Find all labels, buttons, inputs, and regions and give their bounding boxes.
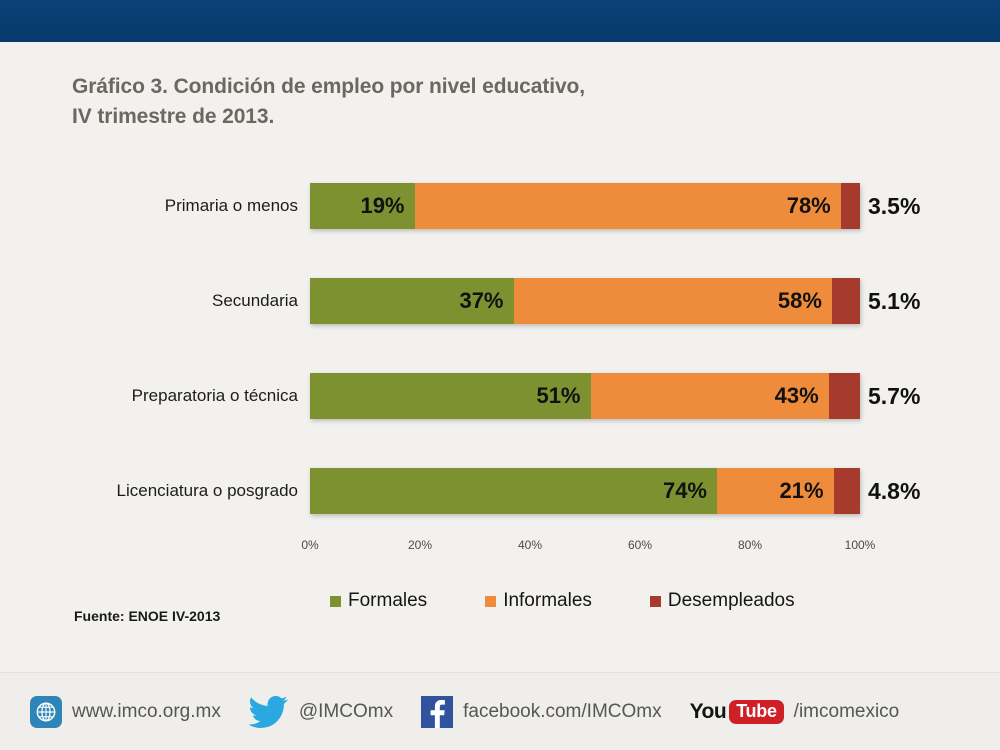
bar-segment-value: 78% <box>787 183 831 229</box>
legend-item-label: Desempleados <box>668 590 795 612</box>
footer-link[interactable]: www.imco.org.mx <box>30 696 221 728</box>
bar-segment-value: 19% <box>360 183 404 229</box>
youtube-wordmark-you: You <box>690 700 727 724</box>
bar-segment-desempleados[interactable] <box>834 468 860 514</box>
legend-item-label: Formales <box>348 590 427 612</box>
x-axis-tick-label: 20% <box>408 538 432 552</box>
bar-segment-value: 37% <box>459 278 503 324</box>
youtube-icon: YouTube <box>690 700 784 724</box>
bar-row: Preparatoria o técnica51%43%5.7% <box>0 373 1000 419</box>
legend-item[interactable]: Formales <box>330 590 427 612</box>
footer-link[interactable]: @IMCOmx <box>249 696 393 728</box>
footer-bar: www.imco.org.mx@IMCOmxfacebook.com/IMCOm… <box>0 672 1000 750</box>
stacked-bar[interactable]: 74%21% <box>310 468 860 514</box>
stacked-bar[interactable]: 19%78% <box>310 183 860 229</box>
x-axis-tick-label: 0% <box>301 538 318 552</box>
bar-segment-formales[interactable]: 51% <box>310 373 591 419</box>
bar-outside-value: 5.7% <box>868 373 920 419</box>
chart-plot-area: Primaria o menos19%78%3.5%Secundaria37%5… <box>0 160 1000 560</box>
footer-link-label: /imcomexico <box>794 701 900 723</box>
legend-swatch-desempleados <box>650 596 661 607</box>
legend-swatch-informales <box>485 596 496 607</box>
youtube-wordmark-tube: Tube <box>729 700 783 724</box>
category-label: Primaria o menos <box>165 183 298 229</box>
top-banner <box>0 0 1000 42</box>
globe-icon <box>30 696 62 728</box>
footer-link[interactable]: YouTube/imcomexico <box>690 700 900 724</box>
category-label: Secundaria <box>212 278 298 324</box>
bar-segment-value: 58% <box>778 278 822 324</box>
source-note: Fuente: ENOE IV-2013 <box>74 608 220 624</box>
bar-segment-informales[interactable]: 43% <box>591 373 829 419</box>
footer-link-label: facebook.com/IMCOmx <box>463 701 662 723</box>
bar-outside-value: 3.5% <box>868 183 920 229</box>
legend-swatch-formales <box>330 596 341 607</box>
footer-link-label: www.imco.org.mx <box>72 701 221 723</box>
bar-segment-value: 51% <box>536 373 580 419</box>
bar-row: Primaria o menos19%78%3.5% <box>0 183 1000 229</box>
chart-title-line-1: Gráfico 3. Condición de empleo por nivel… <box>72 75 585 98</box>
legend-item[interactable]: Informales <box>485 590 592 612</box>
bar-segment-value: 21% <box>780 468 824 514</box>
legend-item[interactable]: Desempleados <box>650 590 795 612</box>
bar-segment-informales[interactable]: 21% <box>717 468 834 514</box>
bar-segment-formales[interactable]: 74% <box>310 468 717 514</box>
category-label: Preparatoria o técnica <box>132 373 298 419</box>
x-axis: 0%20%40%60%80%100% <box>310 538 860 560</box>
x-axis-tick-label: 40% <box>518 538 542 552</box>
facebook-icon <box>421 696 453 728</box>
bar-segment-desempleados[interactable] <box>829 373 860 419</box>
category-label: Licenciatura o posgrado <box>117 468 298 514</box>
x-axis-tick-label: 80% <box>738 538 762 552</box>
chart-title-line-2: IV trimestre de 2013. <box>72 102 772 132</box>
bar-segment-formales[interactable]: 37% <box>310 278 514 324</box>
bar-outside-value: 4.8% <box>868 468 920 514</box>
stacked-bar[interactable]: 37%58% <box>310 278 860 324</box>
bar-segment-value: 43% <box>775 373 819 419</box>
twitter-icon <box>249 696 289 728</box>
bar-segment-formales[interactable]: 19% <box>310 183 415 229</box>
bar-segment-informales[interactable]: 58% <box>514 278 832 324</box>
x-axis-tick-label: 60% <box>628 538 652 552</box>
footer-link[interactable]: facebook.com/IMCOmx <box>421 696 662 728</box>
legend-item-label: Informales <box>503 590 592 612</box>
page-title: Gráfico 3. Condición de empleo por nivel… <box>72 72 772 132</box>
bar-segment-value: 74% <box>663 468 707 514</box>
stacked-bar[interactable]: 51%43% <box>310 373 860 419</box>
footer-link-label: @IMCOmx <box>299 701 393 723</box>
bar-segment-desempleados[interactable] <box>832 278 860 324</box>
bar-outside-value: 5.1% <box>868 278 920 324</box>
bar-segment-informales[interactable]: 78% <box>415 183 841 229</box>
bar-segment-desempleados[interactable] <box>841 183 860 229</box>
x-axis-tick-label: 100% <box>845 538 876 552</box>
bar-row: Licenciatura o posgrado74%21%4.8% <box>0 468 1000 514</box>
chart-legend: FormalesInformalesDesempleados <box>330 586 795 616</box>
bar-row: Secundaria37%58%5.1% <box>0 278 1000 324</box>
